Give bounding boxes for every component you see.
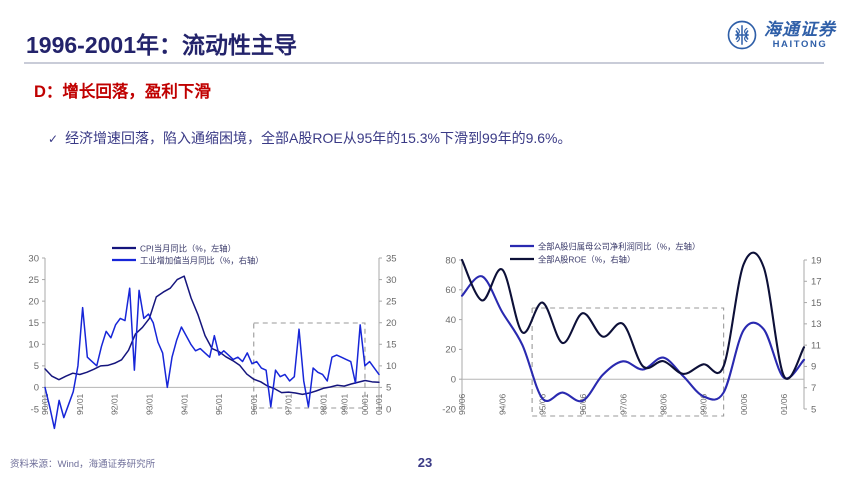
bullet-item: ✓ 经济增速回落，陷入通缩困境，全部A股ROE从95年的15.3%下滑到99年的… [48,128,572,148]
left-axis-tick-label: 0 [34,383,39,394]
right-axis-tick-label: 5 [386,383,391,394]
series-line-0 [45,276,379,394]
right-axis-tick-label: 30 [386,275,397,286]
right-axis-tick-label: 11 [811,340,821,351]
left-axis-tick-label: 60 [445,285,456,296]
x-axis-tick-label: 91/01 [75,393,85,415]
right-axis-tick-label: 17 [811,277,822,288]
series-line-1 [45,288,379,428]
chart-cpi-industrial-output: -50510152025300510152025303590/0191/0192… [12,236,412,451]
x-axis-tick-label: 00/06 [739,393,749,415]
logo-english-name: HAITONG [773,40,828,50]
page-number: 23 [0,455,850,470]
x-axis-tick-label: 98/06 [658,393,668,415]
right-axis-tick-label: 15 [386,340,397,351]
right-axis-tick-label: 7 [811,383,816,394]
section-heading: D：增长回落，盈利下滑 [34,78,211,102]
x-axis-tick-label: 92/01 [110,393,120,415]
right-axis-tick-label: 13 [811,319,822,330]
left-axis-tick-label: 20 [445,345,456,356]
series-line-0 [462,276,804,401]
chart-profit-roe: -20020406080579111315171993/0694/0695/06… [428,236,840,451]
right-axis-tick-label: 25 [386,296,397,307]
x-axis-tick-label: 98/01 [318,393,328,415]
right-axis-tick-label: 5 [811,404,816,415]
left-axis-tick-label: 0 [451,375,456,386]
left-axis-tick-label: 15 [28,318,39,329]
legend-label-1: 全部A股ROE（%，右轴） [538,254,635,264]
x-axis-tick-label: 93/01 [144,393,154,415]
left-axis-tick-label: 80 [445,255,456,266]
left-axis-tick-label: 40 [445,315,456,326]
left-axis-tick-label: -20 [442,404,456,415]
right-axis-tick-label: 35 [386,253,397,264]
x-axis-tick-label: 93/06 [457,393,467,415]
right-axis-tick-label: 0 [386,404,391,415]
title-divider [24,62,824,64]
x-axis-tick-label: 97/01 [284,393,294,415]
x-axis-tick-label: 94/06 [498,393,508,415]
logo-chinese-name: 海通证券 [764,21,836,38]
series-line-1 [462,253,804,379]
x-axis-tick-label: 99/01 [339,393,349,415]
x-axis-tick-label: 94/01 [179,393,189,415]
x-axis-tick-label: 95/01 [214,393,224,415]
haitong-logo: 海通证券 HAITONG [727,20,836,50]
left-axis-tick-label: 30 [28,253,39,264]
left-axis-tick-label: -5 [31,404,39,415]
right-axis-tick-label: 9 [811,362,816,373]
left-axis-tick-label: 10 [28,340,39,351]
x-axis-tick-label: 95/06 [538,393,548,415]
bullet-text: 经济增速回落，陷入通缩困境，全部A股ROE从95年的15.3%下滑到99年的9.… [65,128,571,148]
right-axis-tick-label: 10 [386,361,397,372]
left-axis-tick-label: 20 [28,296,39,307]
haitong-emblem-icon [727,20,757,50]
page-title: 1996-2001年：流动性主导 [26,26,297,60]
legend-label-0: CPI当月同比（%，左轴） [140,243,236,253]
right-axis-tick-label: 19 [811,255,822,266]
legend-label-1: 工业增加值当月同比（%，右轴） [140,255,264,265]
right-axis-tick-label: 15 [811,298,822,309]
left-axis-tick-label: 25 [28,275,39,286]
x-axis-tick-label: 97/06 [618,393,628,415]
left-axis-tick-label: 5 [34,361,39,372]
check-icon: ✓ [48,132,58,146]
legend-label-0: 全部A股归属母公司净利润同比（%，左轴） [538,241,700,251]
x-axis-tick-label: 01/01 [374,393,384,415]
x-axis-tick-label: 01/06 [779,393,789,415]
right-axis-tick-label: 20 [386,318,397,329]
